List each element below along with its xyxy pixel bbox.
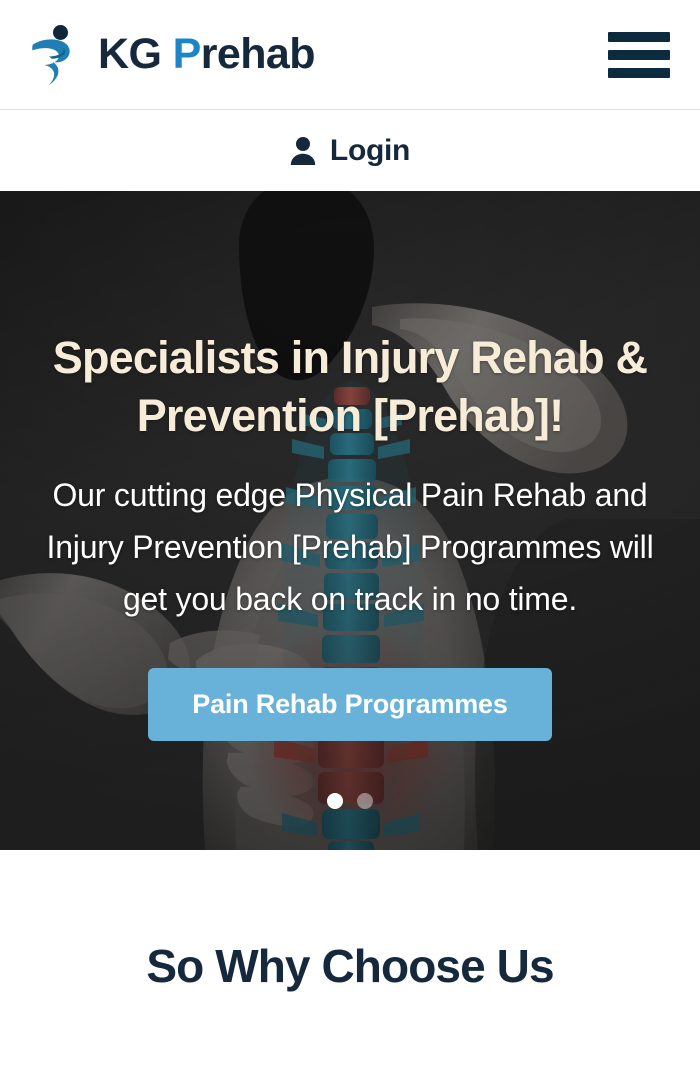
brand-wordmark: KG Prehab [98, 33, 315, 76]
hamburger-menu-button[interactable] [608, 32, 670, 78]
hamburger-bar-middle [608, 50, 670, 60]
brand-logo-link[interactable]: KG Prehab [30, 24, 315, 86]
hero-content: Specialists in Injury Rehab & Prevention… [0, 191, 700, 850]
hero-carousel: Specialists in Injury Rehab & Prevention… [0, 191, 700, 850]
brand-wordmark-p: P [173, 30, 201, 78]
hero-subheading: Our cutting edge Physical Pain Rehab and… [30, 470, 670, 625]
running-figure-logo-icon [30, 24, 86, 86]
user-person-icon [290, 136, 316, 166]
hamburger-bar-bottom [608, 68, 670, 78]
carousel-dot-2[interactable] [357, 793, 373, 809]
login-bar: Login [0, 110, 700, 191]
login-link[interactable]: Login [290, 134, 410, 168]
site-header: KG Prehab [0, 0, 700, 110]
why-choose-us-section: So Why Choose Us [0, 850, 700, 993]
carousel-dot-1[interactable] [327, 793, 343, 809]
hamburger-bar-top [608, 32, 670, 42]
login-label: Login [330, 134, 410, 168]
carousel-dots [0, 793, 700, 809]
brand-wordmark-kg: KG [98, 30, 161, 78]
brand-wordmark-rest: rehab [201, 30, 315, 78]
why-choose-us-title: So Why Choose Us [0, 940, 700, 993]
hero-heading: Specialists in Injury Rehab & Prevention… [28, 329, 673, 444]
pain-rehab-programmes-button[interactable]: Pain Rehab Programmes [148, 668, 551, 742]
